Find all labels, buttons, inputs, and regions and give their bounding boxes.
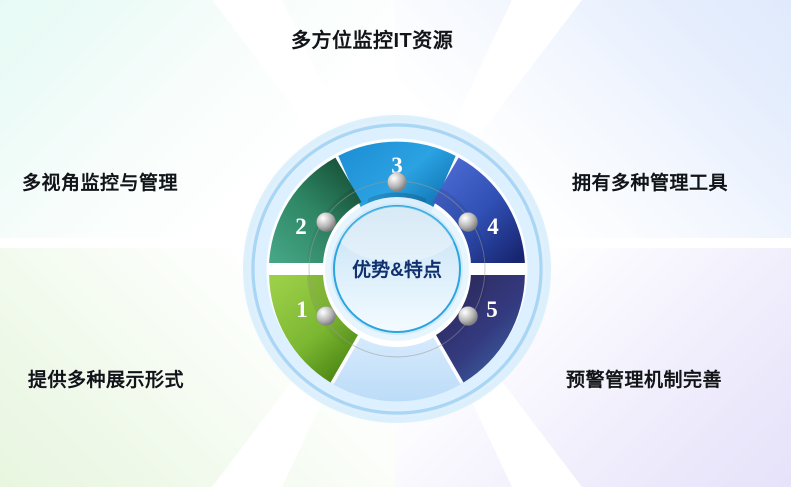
advantage-wheel: 3 2 1 4 bbox=[238, 110, 556, 428]
label-right-upper: 拥有多种管理工具 bbox=[572, 168, 728, 195]
segment-number-1: 1 bbox=[296, 297, 308, 322]
sphere-icon-3[interactable] bbox=[388, 173, 407, 192]
sphere-icon-5[interactable] bbox=[459, 307, 478, 326]
sphere-icon-4[interactable] bbox=[459, 213, 478, 232]
segment-number-4: 4 bbox=[487, 214, 499, 239]
segment-number-2: 2 bbox=[295, 214, 307, 239]
sphere-icon-1[interactable] bbox=[317, 307, 336, 326]
label-top: 多方位监控IT资源 bbox=[291, 24, 453, 53]
diagram-canvas: 3 2 1 4 bbox=[0, 0, 791, 487]
label-left-lower: 提供多种展示形式 bbox=[28, 365, 184, 392]
sphere-icon-2[interactable] bbox=[317, 213, 336, 232]
hub-label: 优势&特点 bbox=[352, 258, 442, 281]
label-left-upper: 多视角监控与管理 bbox=[22, 168, 178, 195]
label-right-lower: 预警管理机制完善 bbox=[566, 365, 722, 392]
segment-number-5: 5 bbox=[486, 297, 498, 322]
